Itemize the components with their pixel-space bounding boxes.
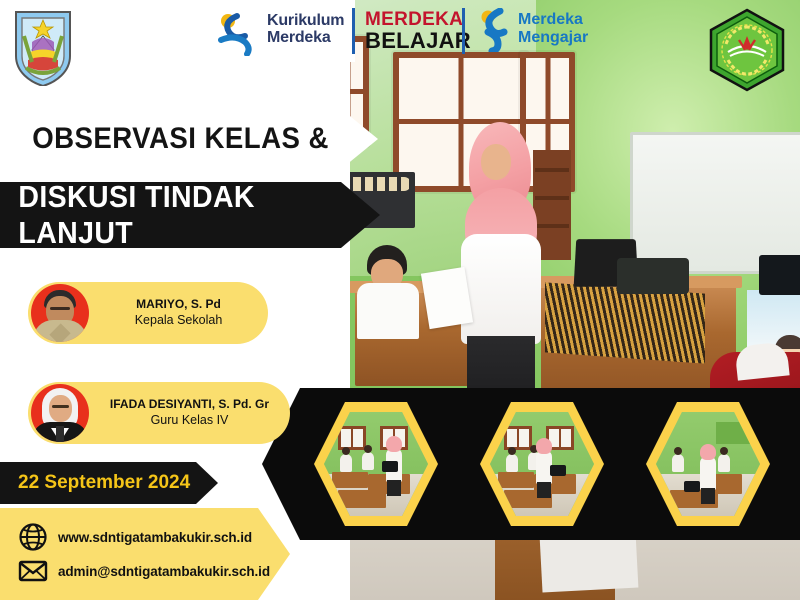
person-role-principal: Kepala Sekolah — [103, 312, 254, 328]
merdeka-belajar-bottom: BELAJAR — [365, 30, 471, 52]
photo-student — [357, 245, 419, 335]
merdeka-belajar-top: MERDEKA — [365, 10, 471, 29]
photo-teacher — [457, 122, 543, 422]
merdeka-mengajar-logo: Merdeka Mengajar — [474, 8, 604, 56]
contact-row-website[interactable]: www.sdntigatambakukir.sch.id — [18, 520, 290, 554]
title-line-2: DISKUSI TINDAK LANJUT — [0, 182, 380, 248]
photo-whiteboard — [630, 132, 800, 274]
date-text: 22 September 2024 — [0, 472, 190, 494]
avatar-teacher — [31, 384, 89, 442]
person-role-teacher: Guru Kelas IV — [103, 412, 276, 428]
title-line-2-text: DISKUSI TINDAK LANJUT — [0, 179, 350, 251]
kurikulum-line-2: Merdeka — [267, 29, 344, 46]
person-card-principal: MARIYO, S. Pd Kepala Sekolah — [28, 282, 268, 344]
gallery-hexagon-1 — [314, 402, 438, 526]
kurikulum-line-1: Kurikulum — [267, 12, 344, 29]
person-card-teacher: IFADA DESIYANTI, S. Pd. Gr Guru Kelas IV — [28, 382, 290, 444]
gallery-band — [262, 388, 800, 540]
photo-monitor — [759, 255, 800, 295]
merdeka-belajar-logo: MERDEKA BELAJAR — [365, 10, 471, 52]
merdeka-mengajar-text: Merdeka Mengajar — [518, 11, 588, 46]
logo-divider-1 — [352, 8, 355, 54]
avatar-principal — [31, 284, 89, 342]
person-name-teacher: IFADA DESIYANTI, S. Pd. Gr — [103, 397, 276, 412]
globe-icon — [18, 522, 48, 552]
kurikulum-merdeka-logo: Kurikulum Merdeka — [215, 8, 345, 60]
website-text: www.sdntigatambakukir.sch.id — [58, 530, 252, 545]
mengajar-line-2: Mengajar — [518, 29, 588, 47]
regency-emblem-icon — [12, 6, 74, 86]
logo-divider-2 — [462, 8, 465, 54]
gallery-photo-3 — [656, 412, 760, 516]
kurikulum-merdeka-icon — [215, 12, 261, 56]
gallery-hexagon-3 — [646, 402, 770, 526]
mengajar-line-1: Merdeka — [518, 11, 588, 29]
title-line-1: OBSERVASI KELAS & — [0, 108, 378, 170]
contact-row-email[interactable]: admin@sdntigatambakukir.sch.id — [18, 554, 290, 588]
photo-paper-foreground — [540, 532, 639, 593]
title-line-1-text: OBSERVASI KELAS & — [0, 122, 329, 156]
envelope-icon — [18, 556, 48, 586]
contact-banner: www.sdntigatambakukir.sch.id admin@sdnti… — [0, 508, 290, 600]
gallery-photo-2 — [490, 412, 594, 516]
kurikulum-merdeka-text: Kurikulum Merdeka — [267, 12, 344, 47]
photo-printer — [617, 258, 689, 294]
photo-batik-cloth — [545, 282, 705, 363]
gallery-photo-1 — [324, 412, 428, 516]
poster-canvas: Kurikulum Merdeka MERDEKA BELAJAR Merdek… — [0, 0, 800, 600]
school-logo-icon — [708, 8, 786, 92]
merdeka-mengajar-icon — [474, 8, 514, 52]
date-banner: 22 September 2024 — [0, 462, 218, 504]
gallery-hexagon-2 — [480, 402, 604, 526]
person-name-principal: MARIYO, S. Pd — [103, 297, 254, 312]
email-text: admin@sdntigatambakukir.sch.id — [58, 564, 270, 579]
